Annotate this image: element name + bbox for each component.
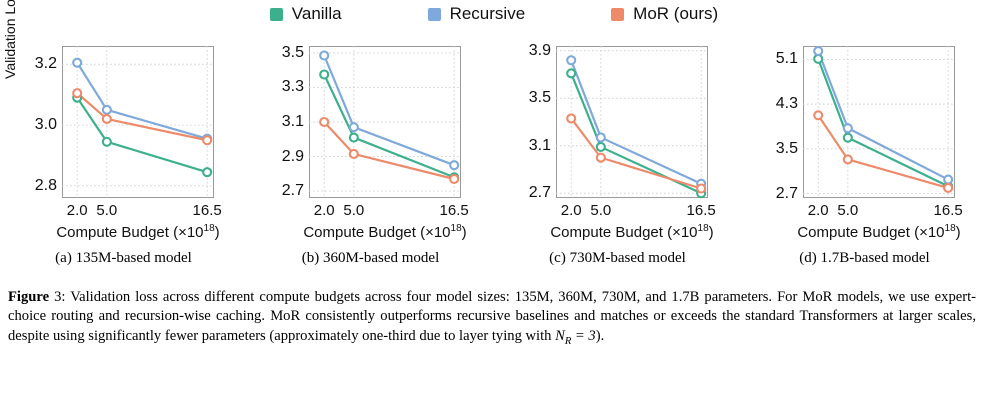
figure-caption: Figure 3: Validation loss across differe… — [8, 288, 976, 348]
y-tick-label: 3.1 — [282, 113, 304, 131]
x-tick-label: 2.0 — [561, 202, 582, 219]
caption-number: 3: — [54, 289, 65, 305]
x-axis-title-exponent: 18 — [945, 223, 956, 234]
x-axis-title: Compute Budget (×1018) — [797, 223, 960, 241]
series-line-vanilla — [818, 59, 948, 186]
chart-panel-d: 2.73.54.35.12.05.016.5Compute Budget (×1… — [741, 28, 988, 278]
data-point-marker[interactable] — [103, 115, 111, 123]
plot-area-c: 2.73.13.53.92.05.016.5Compute Budget (×1… — [556, 46, 708, 198]
y-tick-label: 3.3 — [282, 78, 304, 96]
y-tick-label: 3.5 — [776, 140, 798, 158]
legend-label: Recursive — [450, 4, 526, 24]
x-tick-label: 16.5 — [440, 202, 469, 219]
x-tick-label: 5.0 — [96, 202, 117, 219]
plot-svg-c — [556, 46, 708, 198]
caption-body: Validation loss across different compute… — [8, 289, 976, 344]
y-tick-label: 2.7 — [282, 182, 304, 200]
panel-subcaption-b: (b) 360M-based model — [247, 250, 494, 267]
x-axis-title: Compute Budget (×1018) — [550, 223, 713, 241]
legend-swatch-icon — [611, 8, 624, 21]
x-axis-title-prefix: Compute Budget (×10 — [797, 224, 944, 241]
data-point-marker[interactable] — [597, 143, 605, 151]
x-tick-label: 2.0 — [808, 202, 829, 219]
legend-swatch-icon — [428, 8, 441, 21]
data-point-marker[interactable] — [73, 59, 81, 67]
data-point-marker[interactable] — [320, 118, 328, 126]
x-tick-label: 16.5 — [687, 202, 716, 219]
y-tick-label: 3.0 — [35, 116, 57, 134]
data-point-marker[interactable] — [103, 138, 111, 146]
caption-math-equation: = 3 — [571, 328, 595, 344]
data-point-marker[interactable] — [567, 69, 575, 77]
legend-label: Vanilla — [292, 4, 342, 24]
y-axis-title: Validation Loss — [2, 0, 18, 92]
legend-item-vanilla[interactable]: Vanilla — [270, 4, 342, 24]
y-tick-label: 4.3 — [776, 95, 798, 113]
series-line-recursive — [818, 51, 948, 180]
data-point-marker[interactable] — [350, 134, 358, 142]
data-point-marker[interactable] — [203, 136, 211, 144]
x-tick-label: 2.0 — [314, 202, 335, 219]
chart-panel-b: 2.72.93.13.33.52.05.016.5Compute Budget … — [247, 28, 494, 278]
plot-svg-b — [309, 46, 461, 198]
x-axis-title-prefix: Compute Budget (×10 — [56, 224, 203, 241]
legend-item-mor-ours[interactable]: MoR (ours) — [611, 4, 718, 24]
caption-figure-word: Figure — [8, 289, 49, 305]
x-tick-label: 5.0 — [343, 202, 364, 219]
chart-panel-c: 2.73.13.53.92.05.016.5Compute Budget (×1… — [494, 28, 741, 278]
y-tick-label: 3.5 — [529, 89, 551, 107]
data-point-marker[interactable] — [567, 56, 575, 64]
legend-swatch-icon — [270, 8, 283, 21]
x-axis-title-suffix: ) — [956, 224, 961, 241]
legend-item-recursive[interactable]: Recursive — [428, 4, 526, 24]
data-point-marker[interactable] — [320, 71, 328, 79]
x-axis-title: Compute Budget (×1018) — [303, 223, 466, 241]
chart-panels-row: Validation Loss2.83.03.22.05.016.5Comput… — [0, 28, 988, 278]
plot-frame — [63, 47, 214, 198]
series-line-recursive — [324, 56, 454, 166]
x-axis-title-suffix: ) — [215, 224, 220, 241]
plot-area-d: 2.73.54.35.12.05.016.5Compute Budget (×1… — [803, 46, 955, 198]
data-point-marker[interactable] — [203, 168, 211, 176]
x-tick-label: 2.0 — [67, 202, 88, 219]
panel-subcaption-d: (d) 1.7B-based model — [741, 250, 988, 267]
data-point-marker[interactable] — [844, 155, 852, 163]
legend-label: MoR (ours) — [633, 4, 718, 24]
x-axis-title-suffix: ) — [709, 224, 714, 241]
y-tick-label: 2.8 — [35, 177, 57, 195]
x-axis-title-exponent: 18 — [698, 223, 709, 234]
data-point-marker[interactable] — [697, 185, 705, 193]
x-tick-label: 5.0 — [837, 202, 858, 219]
plot-area-b: 2.72.93.13.33.52.05.016.5Compute Budget … — [309, 46, 461, 198]
x-axis-title-prefix: Compute Budget (×10 — [550, 224, 697, 241]
x-tick-label: 16.5 — [193, 202, 222, 219]
x-axis-title: Compute Budget (×1018) — [56, 223, 219, 241]
panel-subcaption-c: (c) 730M-based model — [494, 250, 741, 267]
plot-svg-d — [803, 46, 955, 198]
y-tick-label: 3.5 — [282, 44, 304, 62]
y-tick-label: 2.7 — [529, 184, 551, 202]
panel-subcaption-a: (a) 135M-based model — [0, 250, 247, 267]
data-point-marker[interactable] — [103, 106, 111, 114]
data-point-marker[interactable] — [350, 150, 358, 158]
data-point-marker[interactable] — [597, 133, 605, 141]
plot-frame — [557, 47, 708, 198]
data-point-marker[interactable] — [73, 89, 81, 97]
x-tick-label: 5.0 — [590, 202, 611, 219]
data-point-marker[interactable] — [814, 47, 822, 55]
data-point-marker[interactable] — [814, 111, 822, 119]
x-axis-title-exponent: 18 — [451, 223, 462, 234]
x-tick-label: 16.5 — [934, 202, 963, 219]
plot-svg-a — [62, 46, 214, 198]
data-point-marker[interactable] — [844, 124, 852, 132]
plot-area-a: 2.83.03.22.05.016.5Compute Budget (×1018… — [62, 46, 214, 198]
chart-legend: VanillaRecursiveMoR (ours) — [0, 4, 988, 24]
data-point-marker[interactable] — [944, 184, 952, 192]
data-point-marker[interactable] — [597, 154, 605, 162]
data-point-marker[interactable] — [844, 134, 852, 142]
y-tick-label: 3.9 — [529, 42, 551, 60]
data-point-marker[interactable] — [320, 52, 328, 60]
x-axis-title-prefix: Compute Budget (×10 — [303, 224, 450, 241]
caption-math-n: N — [555, 328, 565, 344]
chart-panel-a: Validation Loss2.83.03.22.05.016.5Comput… — [0, 28, 247, 278]
y-tick-label: 5.1 — [776, 50, 798, 68]
data-point-marker[interactable] — [567, 114, 575, 122]
y-tick-label: 3.2 — [35, 55, 57, 73]
y-tick-label: 3.1 — [529, 137, 551, 155]
data-point-marker[interactable] — [350, 123, 358, 131]
x-axis-title-exponent: 18 — [204, 223, 215, 234]
y-tick-label: 2.9 — [282, 148, 304, 166]
data-point-marker[interactable] — [944, 176, 952, 184]
data-point-marker[interactable] — [450, 161, 458, 169]
caption-tail: ). — [596, 328, 605, 344]
data-point-marker[interactable] — [450, 175, 458, 183]
figure-root: VanillaRecursiveMoR (ours) Validation Lo… — [0, 0, 988, 400]
x-axis-title-suffix: ) — [462, 224, 467, 241]
y-tick-label: 2.7 — [776, 185, 798, 203]
